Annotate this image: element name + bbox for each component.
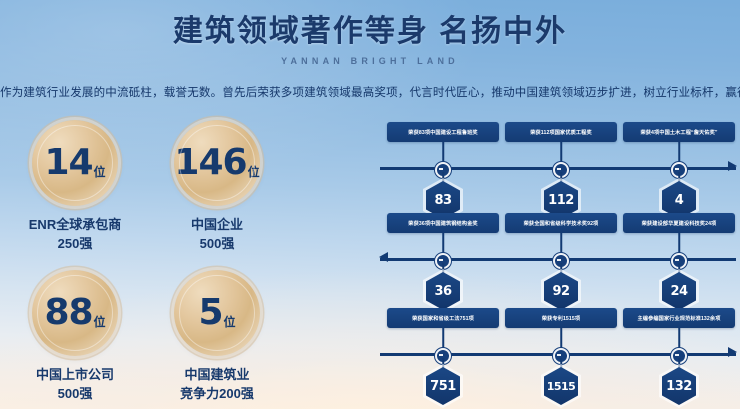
stat-label-line1: 中国建筑业 bbox=[146, 365, 288, 384]
stat-label: 中国企业 500强 bbox=[146, 215, 288, 253]
stat-label: 中国建筑业 竞争力200强 bbox=[146, 365, 288, 403]
timeline-label-chip: 荣获4项中国土木工程“詹天佑奖” bbox=[623, 122, 735, 142]
timeline-node[interactable]: 荣获83项中国建设工程鲁班奖 83 bbox=[384, 120, 502, 210]
intro-paragraph: 作为建筑行业发展的中流砥柱，载誉无数。曾先后荣获多项建筑领域最高奖项，代言时代匠… bbox=[0, 84, 740, 100]
stat-unit: 位 bbox=[224, 316, 236, 328]
timeline-label-chip: 荣获36项中国建筑钢结构金奖 bbox=[387, 213, 499, 233]
page-subtitle: YANNAN BRIGHT LAND bbox=[0, 56, 740, 66]
timeline-node[interactable]: 荣获国家和省级工法751项 751 bbox=[384, 306, 502, 396]
stat-label-line1: 中国上市公司 bbox=[4, 365, 146, 384]
timeline-badge-hexagon: 751 bbox=[423, 364, 463, 408]
stat-number: 5 bbox=[198, 295, 222, 331]
promo-banner: 建筑领域著作等身 名扬中外 YANNAN BRIGHT LAND 作为建筑行业发… bbox=[0, 0, 740, 409]
timeline-node[interactable]: 荣获专利1515项 1515 bbox=[502, 306, 620, 396]
timeline-node[interactable]: 荣获全国和省级科学技术奖92项 92 bbox=[502, 211, 620, 301]
timeline-label-chip: 荣获专利1515项 bbox=[505, 308, 617, 328]
page-title: 建筑领域著作等身 名扬中外 bbox=[0, 14, 740, 50]
stat-label-line2: 500强 bbox=[146, 234, 288, 253]
timeline-badge-hexagon: 132 bbox=[659, 364, 699, 408]
timeline-label-chip: 荣获国家和省级工法751项 bbox=[387, 308, 499, 328]
timeline-label-text: 荣获83项中国建设工程鲁班奖 bbox=[408, 129, 477, 136]
stat-card: 14位 ENR全球承包商 250强 bbox=[4, 120, 146, 253]
timeline-badge-value: 36 bbox=[434, 284, 451, 299]
timeline-label-chip: 荣获112项国家优质工程奖 bbox=[505, 122, 617, 142]
stat-medal-icon: 146位 bbox=[174, 120, 260, 206]
timeline-row: 荣获国家和省级工法751项 751 荣获专利1515项 1515 主编参编国家行… bbox=[380, 306, 736, 396]
stat-card: 5位 中国建筑业 竞争力200强 bbox=[146, 270, 288, 403]
timeline-label-text: 荣获112项国家优质工程奖 bbox=[530, 129, 592, 136]
timeline-badge-value: 24 bbox=[670, 284, 687, 299]
timeline-label-text: 荣获专利1515项 bbox=[542, 315, 580, 322]
stat-label-line2: 竞争力200强 bbox=[146, 384, 288, 403]
timeline-node[interactable]: 荣获建设部华夏建设科技奖24项 24 bbox=[620, 211, 738, 301]
stat-card: 146位 中国企业 500强 bbox=[146, 120, 288, 253]
timeline-row: 荣获36项中国建筑钢结构金奖 36 荣获全国和省级科学技术奖92项 92 荣获建… bbox=[380, 211, 736, 301]
timeline-node[interactable]: 荣获4项中国土木工程“詹天佑奖” 4 bbox=[620, 120, 738, 210]
stat-number: 14 bbox=[44, 145, 92, 181]
stat-label-line1: ENR全球承包商 bbox=[4, 215, 146, 234]
timeline-node[interactable]: 荣获112项国家优质工程奖 112 bbox=[502, 120, 620, 210]
stat-label-line1: 中国企业 bbox=[146, 215, 288, 234]
stat-card: 88位 中国上市公司 500强 bbox=[4, 270, 146, 403]
stats-grid: 14位 ENR全球承包商 250强 146位 中国企业 500强 88位 中国上… bbox=[4, 120, 288, 405]
timeline-badge-value: 83 bbox=[434, 193, 451, 208]
timeline-label-text: 荣获国家和省级工法751项 bbox=[412, 315, 474, 322]
stat-label: 中国上市公司 500强 bbox=[4, 365, 146, 403]
stat-label: ENR全球承包商 250强 bbox=[4, 215, 146, 253]
stat-medal-icon: 5位 bbox=[174, 270, 260, 356]
stat-number: 88 bbox=[44, 295, 92, 331]
timeline-label-text: 荣获4项中国土木工程“詹天佑奖” bbox=[640, 129, 717, 136]
timeline-label-chip: 荣获全国和省级科学技术奖92项 bbox=[505, 213, 617, 233]
stat-label-line2: 250强 bbox=[4, 234, 146, 253]
timeline-label-text: 荣获36项中国建筑钢结构金奖 bbox=[408, 220, 477, 227]
timeline-badge-value: 751 bbox=[430, 379, 456, 394]
stat-medal-icon: 14位 bbox=[32, 120, 118, 206]
timeline-label-text: 荣获全国和省级科学技术奖92项 bbox=[524, 220, 599, 227]
timeline-badge-value: 1515 bbox=[547, 380, 576, 393]
stat-unit: 位 bbox=[94, 316, 106, 328]
timeline-node[interactable]: 荣获36项中国建筑钢结构金奖 36 bbox=[384, 211, 502, 301]
timeline-node[interactable]: 主编参编国家行业规范标准132余项 132 bbox=[620, 306, 738, 396]
timeline-badge-value: 92 bbox=[552, 284, 569, 299]
stat-unit: 位 bbox=[248, 166, 260, 178]
timeline-badge-value: 4 bbox=[675, 193, 684, 208]
timeline-label-text: 荣获建设部华夏建设科技奖24项 bbox=[642, 220, 717, 227]
stat-label-line2: 500强 bbox=[4, 384, 146, 403]
timeline-row: 荣获83项中国建设工程鲁班奖 83 荣获112项国家优质工程奖 112 荣获4项… bbox=[380, 120, 736, 210]
timeline-badge-hexagon: 1515 bbox=[541, 364, 581, 408]
timeline-label-chip: 荣获83项中国建设工程鲁班奖 bbox=[387, 122, 499, 142]
timeline-badge-value: 132 bbox=[666, 379, 692, 394]
page-header: 建筑领域著作等身 名扬中外 YANNAN BRIGHT LAND bbox=[0, 14, 740, 66]
timeline-label-text: 主编参编国家行业规范标准132余项 bbox=[638, 315, 721, 322]
timeline-badge-value: 112 bbox=[548, 193, 574, 208]
awards-timeline: 荣获83项中国建设工程鲁班奖 83 荣获112项国家优质工程奖 112 荣获4项… bbox=[380, 120, 736, 408]
stat-unit: 位 bbox=[94, 166, 106, 178]
stat-number: 146 bbox=[174, 145, 246, 181]
timeline-label-chip: 主编参编国家行业规范标准132余项 bbox=[623, 308, 735, 328]
stat-medal-icon: 88位 bbox=[32, 270, 118, 356]
timeline-label-chip: 荣获建设部华夏建设科技奖24项 bbox=[623, 213, 735, 233]
